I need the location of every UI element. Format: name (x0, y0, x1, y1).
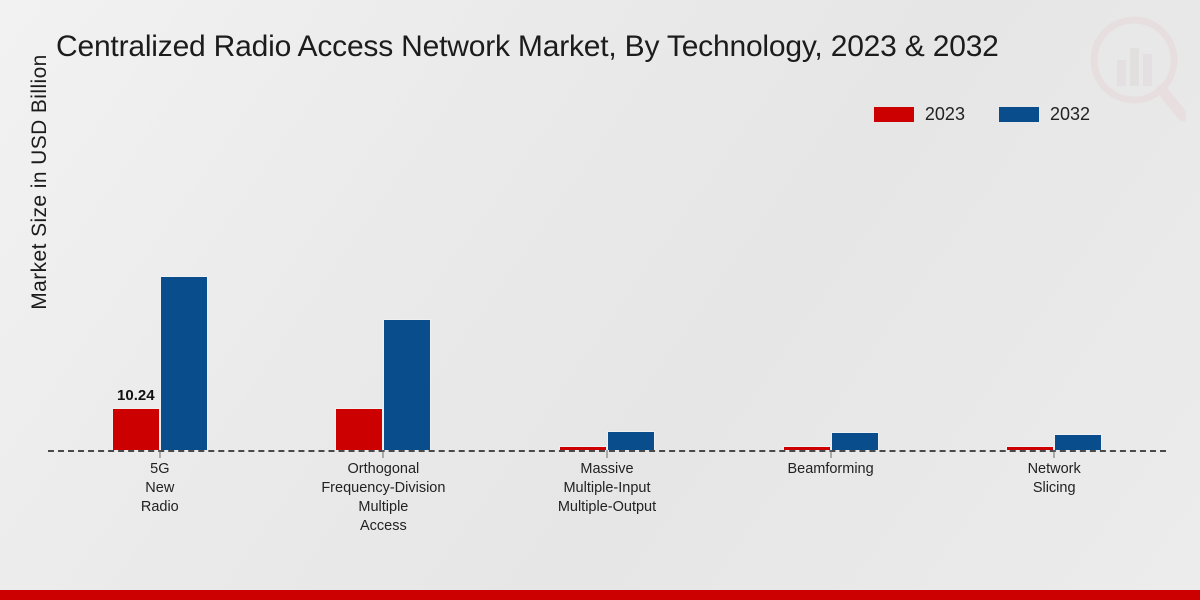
category-label-line: Slicing (942, 479, 1166, 498)
category-label-line: New (48, 479, 272, 498)
legend-label-2032: 2032 (1050, 104, 1090, 125)
bar-wrapper (335, 408, 383, 450)
category-label-line: Massive (495, 460, 719, 479)
chart-legend: 2023 2032 (0, 104, 1090, 125)
x-axis-tick (830, 450, 831, 458)
bar-wrapper (383, 319, 431, 450)
bar-group: Beamforming (719, 150, 943, 450)
bar-2032[interactable] (383, 319, 431, 450)
bar-wrapper: 10.24 (112, 408, 160, 450)
category-label-line: Beamforming (719, 460, 943, 479)
x-axis-category-label: NetworkSlicing (942, 460, 1166, 498)
category-label-line: Multiple (272, 498, 496, 517)
bar-2023[interactable] (559, 446, 607, 450)
x-axis-tick (1054, 450, 1055, 458)
legend-swatch-2023 (874, 107, 914, 122)
bar-wrapper (1006, 446, 1054, 450)
legend-swatch-2032 (999, 107, 1039, 122)
bar-wrapper (783, 446, 831, 450)
bar-2032[interactable] (607, 431, 655, 450)
category-label-line: 5G (48, 460, 272, 479)
x-axis-tick (383, 450, 384, 458)
category-label-line: Frequency-Division (272, 479, 496, 498)
bar-pair: 10.24 (112, 150, 208, 450)
bar-wrapper (831, 432, 879, 450)
bar-group: 10.245GNewRadio (48, 150, 272, 450)
bar-pair (335, 150, 431, 450)
bar-wrapper (559, 446, 607, 450)
bar-2023[interactable] (1006, 446, 1054, 450)
legend-item-2023[interactable]: 2023 (874, 104, 965, 125)
bar-2023[interactable] (335, 408, 383, 450)
bar-pair (783, 150, 879, 450)
category-label-line: Multiple-Output (495, 498, 719, 517)
bar-group: NetworkSlicing (942, 150, 1166, 450)
bar-2032[interactable] (160, 276, 208, 450)
x-axis-tick (606, 450, 607, 458)
bar-pair (1006, 150, 1102, 450)
legend-item-2032[interactable]: 2032 (999, 104, 1090, 125)
bar-group: MassiveMultiple-InputMultiple-Output (495, 150, 719, 450)
category-label-line: Orthogonal (272, 460, 496, 479)
category-label-line: Network (942, 460, 1166, 479)
x-axis-category-label: Beamforming (719, 460, 943, 479)
bar-2023[interactable] (783, 446, 831, 450)
bar-2032[interactable] (831, 432, 879, 450)
bar-pair (559, 150, 655, 450)
footer-accent-bar (0, 590, 1200, 600)
bar-2032[interactable] (1054, 434, 1102, 450)
category-label-line: Access (272, 517, 496, 536)
category-label-line: Multiple-Input (495, 479, 719, 498)
chart-page: Centralized Radio Access Network Market,… (0, 0, 1200, 600)
category-label-line: Radio (48, 498, 272, 517)
x-axis-tick (159, 450, 160, 458)
bar-2023[interactable] (112, 408, 160, 450)
bar-groups: 10.245GNewRadioOrthogonalFrequency-Divis… (48, 150, 1166, 450)
watermark-logo (1086, 8, 1186, 130)
bar-wrapper (607, 431, 655, 450)
plot-area: 10.245GNewRadioOrthogonalFrequency-Divis… (48, 150, 1166, 450)
x-axis-category-label: OrthogonalFrequency-DivisionMultipleAcce… (272, 460, 496, 536)
legend-label-2023: 2023 (925, 104, 965, 125)
chart-title: Centralized Radio Access Network Market,… (56, 30, 1146, 64)
bar-value-label: 10.24 (117, 387, 155, 404)
bar-wrapper (160, 276, 208, 450)
bar-group: OrthogonalFrequency-DivisionMultipleAcce… (272, 150, 496, 450)
bar-wrapper (1054, 434, 1102, 450)
x-axis-category-label: MassiveMultiple-InputMultiple-Output (495, 460, 719, 517)
x-axis-category-label: 5GNewRadio (48, 460, 272, 517)
